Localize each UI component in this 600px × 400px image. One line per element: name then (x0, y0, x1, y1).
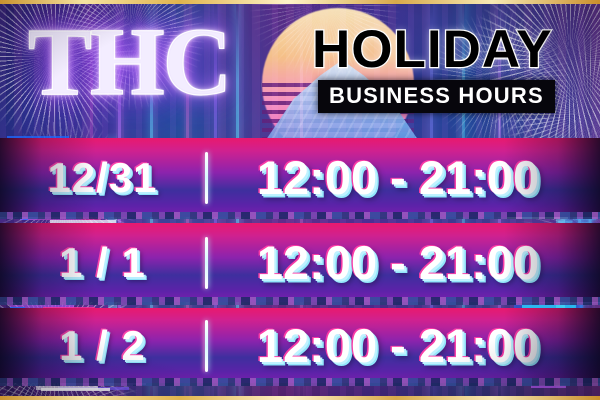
holiday-hours-poster: 謹賀新年 THC HOLIDAY BUSINESS HOURS 12/3112:… (0, 0, 600, 400)
schedule-row: 1 / 112:00 - 21:00 (0, 223, 600, 302)
schedule-row-edge-fade (0, 308, 600, 383)
gold-border-bottom (0, 396, 600, 400)
schedule-row: 12/3112:00 - 21:00 (0, 138, 600, 217)
schedule-row: 1 / 212:00 - 21:00 (0, 308, 600, 383)
photo-strip-sliver (0, 378, 600, 386)
gold-border-top (0, 0, 600, 4)
photo-strip-sliver (0, 297, 600, 305)
schedule-rows: 12/3112:00 - 21:001 / 112:00 - 21:001 / … (0, 0, 600, 400)
schedule-row-edge-fade (0, 223, 600, 302)
schedule-row-edge-fade (0, 138, 600, 217)
photo-strip-sliver (0, 212, 600, 219)
